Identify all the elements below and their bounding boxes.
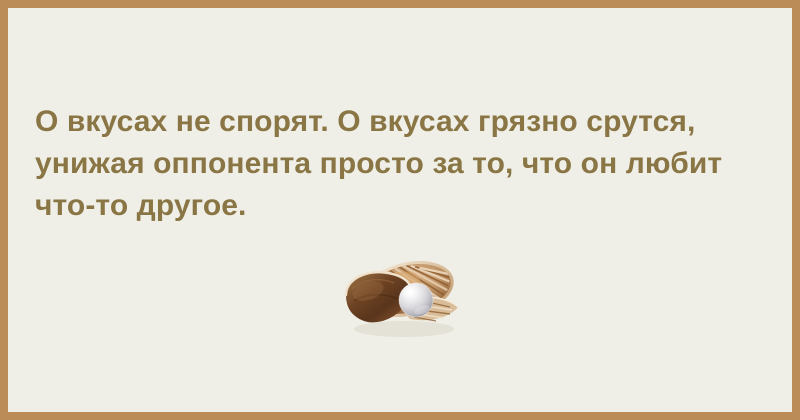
pearl <box>399 283 433 317</box>
quote-line-2: унижая оппонента просто за то, что он лю… <box>35 143 781 185</box>
poster-canvas: О вкусах не спорят. О вкусах грязно срут… <box>0 0 800 420</box>
oyster-shell-with-pearl-icon <box>338 255 470 341</box>
quote-text-block: О вкусах не спорят. О вкусах грязно срут… <box>35 101 781 227</box>
oyster-shell-with-pearl-image <box>338 255 470 341</box>
quote-line-3: что-то другое. <box>35 185 781 227</box>
quote-line-1: О вкусах не спорят. О вкусах грязно срут… <box>35 101 781 143</box>
